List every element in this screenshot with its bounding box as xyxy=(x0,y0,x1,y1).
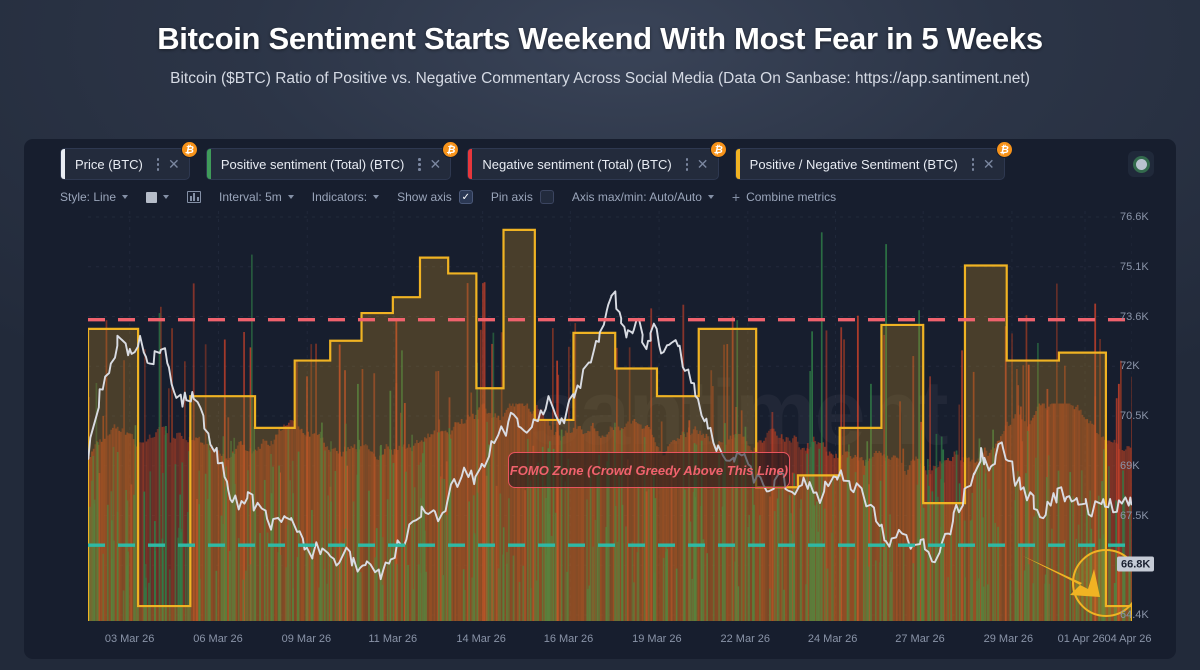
x-axis-tick: 16 Mar 26 xyxy=(544,633,594,645)
page-subtitle: Bitcoin ($BTC) Ratio of Positive vs. Neg… xyxy=(0,70,1200,88)
y-axis-tick: 69K xyxy=(1120,460,1140,472)
color-swatch-dropdown[interactable] xyxy=(146,192,169,203)
y-axis-tick: 75.1K xyxy=(1120,261,1149,273)
y-axis-tick: 67.5K xyxy=(1120,510,1149,522)
bitcoin-badge-icon: ₿ xyxy=(442,141,459,158)
x-axis-tick: 27 Mar 26 xyxy=(895,633,945,645)
x-axis-tick: 04 Apr 26 xyxy=(1104,633,1151,645)
style-label: Style: Line xyxy=(60,190,116,204)
close-icon[interactable]: ✕ xyxy=(694,157,712,171)
metric-tabs: Price (BTC) ✕ ₿ Positive sentiment (Tota… xyxy=(60,148,1021,182)
x-axis-tick: 22 Mar 26 xyxy=(721,633,771,645)
tab-negative-sentiment[interactable]: Negative sentiment (Total) (BTC) ✕ ₿ xyxy=(467,148,718,180)
color-swatch-icon xyxy=(146,192,157,203)
y-axis-tick: 73.6K xyxy=(1120,311,1149,323)
combine-metrics-label: Combine metrics xyxy=(746,190,836,204)
pin-axis-toggle[interactable]: Pin axis xyxy=(491,190,554,204)
close-icon[interactable]: ✕ xyxy=(980,157,998,171)
candles-toggle[interactable] xyxy=(187,191,201,203)
tab-label: Positive sentiment (Total) (BTC) xyxy=(211,157,413,172)
page-title: Bitcoin Sentiment Starts Weekend With Mo… xyxy=(0,22,1200,57)
pin-axis-checkbox[interactable] xyxy=(540,190,554,204)
chevron-down-icon xyxy=(708,195,714,199)
tab-label: Price (BTC) xyxy=(65,157,151,172)
page-header: Bitcoin Sentiment Starts Weekend With Mo… xyxy=(0,0,1200,88)
x-axis-tick: 29 Mar 26 xyxy=(984,633,1034,645)
show-axis-checkbox[interactable]: ✓ xyxy=(459,190,473,204)
axis-minmax-label: Axis max/min: Auto/Auto xyxy=(572,190,702,204)
pin-axis-label: Pin axis xyxy=(491,190,533,204)
vertical-dots-icon[interactable] xyxy=(966,155,980,173)
plot-area[interactable]: santiment xyxy=(60,211,1160,621)
chart-svg xyxy=(88,211,1132,621)
bitcoin-badge-icon: ₿ xyxy=(181,141,198,158)
vertical-dots-icon[interactable] xyxy=(680,155,694,173)
bitcoin-badge-icon: ₿ xyxy=(996,141,1013,158)
current-price-badge: 66.8K xyxy=(1117,557,1154,572)
interval-label: Interval: 5m xyxy=(219,190,282,204)
indicators-dropdown[interactable]: Indicators: xyxy=(312,190,379,204)
chevron-down-icon xyxy=(163,195,169,199)
plus-icon: + xyxy=(732,189,740,205)
plot-canvas xyxy=(88,211,1132,621)
bitcoin-badge-icon: ₿ xyxy=(710,141,727,158)
x-axis-tick: 19 Mar 26 xyxy=(632,633,682,645)
interval-dropdown[interactable]: Interval: 5m xyxy=(219,190,294,204)
chart-toolbar: Style: Line Interval: 5m Indicators: Sho… xyxy=(60,187,854,207)
tab-positive-negative-sentiment[interactable]: Positive / Negative Sentiment (BTC) ✕ ₿ xyxy=(735,148,1005,180)
chart-panel: Price (BTC) ✕ ₿ Positive sentiment (Tota… xyxy=(24,139,1176,659)
x-axis-tick: 14 Mar 26 xyxy=(456,633,506,645)
fomo-zone-annotation: FOMO Zone (Crowd Greedy Above This Line) xyxy=(508,452,790,488)
chevron-down-icon xyxy=(122,195,128,199)
indicators-label: Indicators: xyxy=(312,190,367,204)
x-axis-tick: 01 Apr 26 xyxy=(1058,633,1105,645)
show-axis-toggle[interactable]: Show axis ✓ xyxy=(397,190,473,204)
y-axis-tick: 64.4K xyxy=(1120,609,1149,621)
live-status-dot-icon xyxy=(1136,159,1147,170)
candles-icon xyxy=(187,191,201,203)
y-axis-tick: 72K xyxy=(1120,360,1140,372)
live-status-button[interactable] xyxy=(1128,151,1154,177)
tab-label: Negative sentiment (Total) (BTC) xyxy=(472,157,679,172)
x-axis: 03 Mar 2606 Mar 2609 Mar 2611 Mar 2614 M… xyxy=(60,633,1160,649)
y-axis: 76.6K75.1K73.6K72K70.5K69K67.5K65.9K64.4… xyxy=(1112,211,1170,623)
tab-price-btc[interactable]: Price (BTC) ✕ ₿ xyxy=(60,148,190,180)
y-axis-tick: 76.6K xyxy=(1120,211,1149,223)
x-axis-tick: 09 Mar 26 xyxy=(282,633,332,645)
x-axis-tick: 03 Mar 26 xyxy=(105,633,155,645)
combine-metrics-button[interactable]: + Combine metrics xyxy=(732,189,836,205)
show-axis-label: Show axis xyxy=(397,190,452,204)
y-axis-tick: 70.5K xyxy=(1120,410,1149,422)
x-axis-tick: 24 Mar 26 xyxy=(808,633,858,645)
x-axis-tick: 06 Mar 26 xyxy=(193,633,243,645)
chevron-down-icon xyxy=(373,195,379,199)
tab-positive-sentiment[interactable]: Positive sentiment (Total) (BTC) ✕ ₿ xyxy=(206,148,452,180)
vertical-dots-icon[interactable] xyxy=(151,155,165,173)
chevron-down-icon xyxy=(288,195,294,199)
x-axis-tick: 11 Mar 26 xyxy=(368,633,417,645)
tab-label: Positive / Negative Sentiment (BTC) xyxy=(740,157,966,172)
style-dropdown[interactable]: Style: Line xyxy=(60,190,128,204)
close-icon[interactable]: ✕ xyxy=(165,157,183,171)
close-icon[interactable]: ✕ xyxy=(426,157,444,171)
vertical-dots-icon[interactable] xyxy=(412,155,426,173)
axis-minmax-dropdown[interactable]: Axis max/min: Auto/Auto xyxy=(572,190,714,204)
